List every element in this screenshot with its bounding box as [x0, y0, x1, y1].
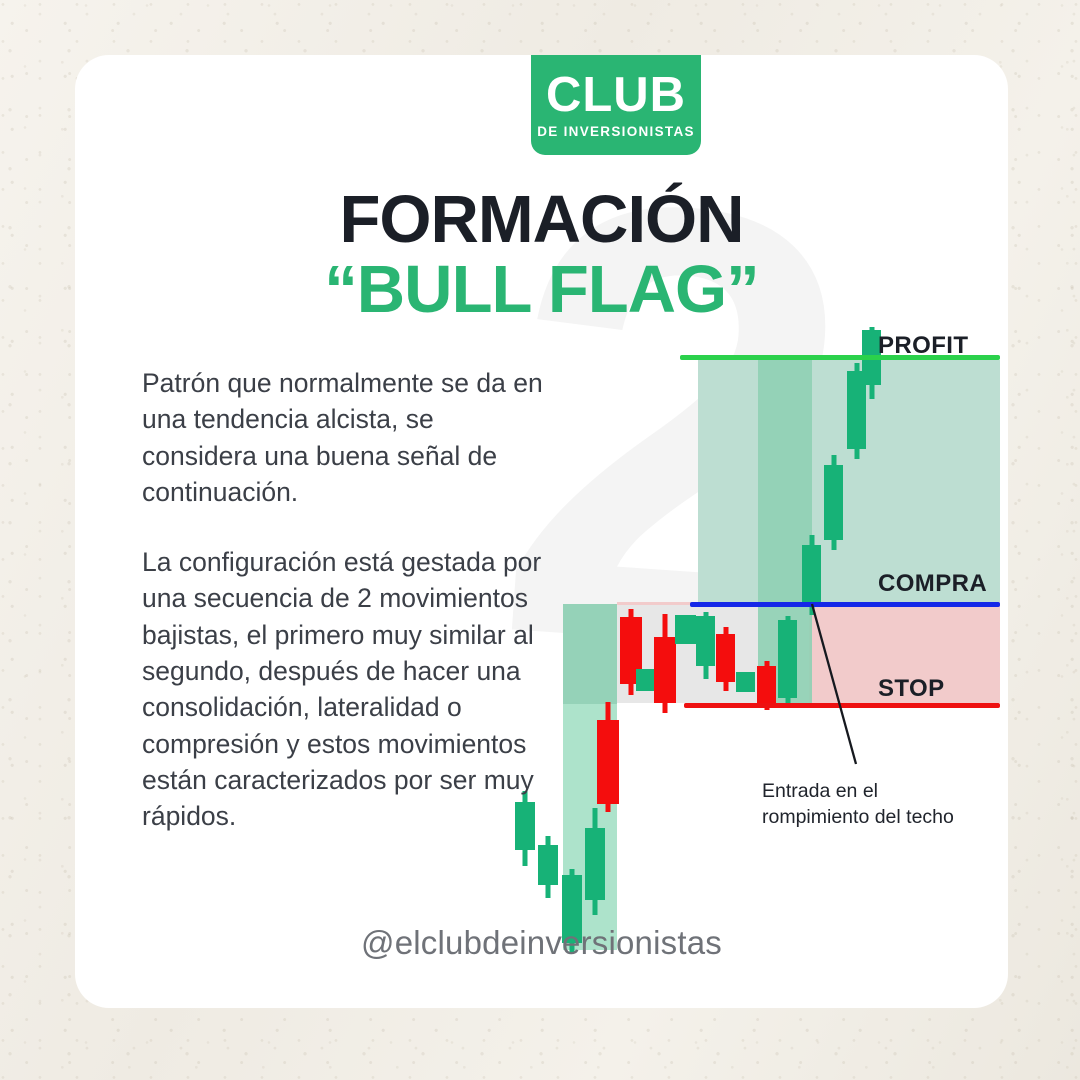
annotation-text: Entrada en elrompimiento del techo — [762, 778, 954, 831]
title-line-1: FORMACIÓN — [75, 185, 1008, 255]
social-handle: @elclubdeinversionistas — [75, 924, 1008, 962]
logo-tagline: DE INVERSIONISTAS — [531, 125, 701, 139]
logo-wordmark: CLUB — [531, 71, 701, 120]
brand-logo: CLUB DE INVERSIONISTAS — [531, 55, 701, 155]
description-paragraph-2: La configuración está gestada por una se… — [142, 544, 552, 834]
annotation-line-1: Entrada en el — [762, 778, 954, 804]
page-title: FORMACIÓN “BULL FLAG” — [75, 185, 1008, 324]
description-paragraph-1: Patrón que normalmente se da en una tend… — [142, 365, 552, 510]
annotation-line-2: rompimiento del techo — [762, 804, 954, 830]
post-card: 2 PROFITCOMPRASTOPEntrada en elrompimien… — [75, 55, 1008, 1008]
description-text: Patrón que normalmente se da en una tend… — [142, 365, 552, 835]
title-line-2: “BULL FLAG” — [75, 255, 1008, 325]
